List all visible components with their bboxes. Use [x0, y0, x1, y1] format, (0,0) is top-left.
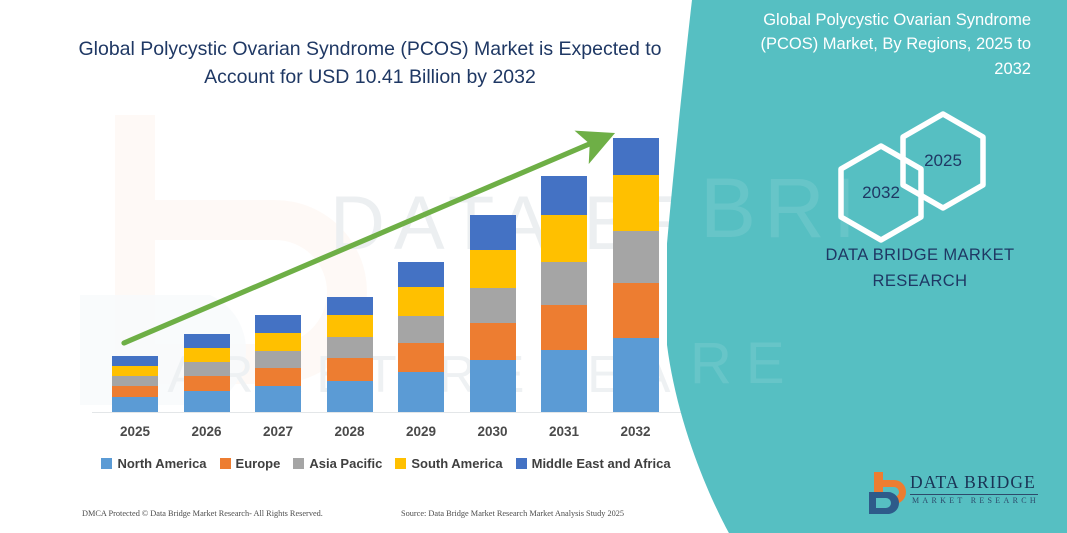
bar-segment[interactable] — [255, 368, 301, 386]
dbmr-logo-rule — [910, 494, 1038, 495]
bar-segment[interactable] — [327, 315, 373, 337]
bar-segment[interactable] — [398, 262, 444, 287]
panel-heading: Global Polycystic Ovarian Syndrome (PCOS… — [731, 8, 1031, 81]
bar-segment[interactable] — [184, 362, 230, 376]
bar-segment[interactable] — [613, 338, 659, 412]
bar-segment[interactable] — [541, 350, 587, 412]
bar-segment[interactable] — [184, 376, 230, 391]
bar-segment[interactable] — [398, 372, 444, 412]
bar-group[interactable] — [470, 215, 516, 412]
bar-segment[interactable] — [184, 334, 230, 348]
bar-segment[interactable] — [541, 305, 587, 350]
bar-group[interactable] — [613, 138, 659, 412]
legend-label: North America — [117, 456, 206, 471]
bar-segment[interactable] — [470, 288, 516, 323]
bar-segment[interactable] — [398, 316, 444, 343]
legend-label: Middle East and Africa — [532, 456, 671, 471]
legend-swatch — [293, 458, 304, 469]
bar-segment[interactable] — [327, 337, 373, 358]
bar-segment[interactable] — [255, 351, 301, 368]
bar-group[interactable] — [398, 262, 444, 412]
bar-segment[interactable] — [398, 287, 444, 316]
bar-segment[interactable] — [255, 386, 301, 412]
bar-segment[interactable] — [470, 215, 516, 250]
hexagon-2032: 2032 — [835, 142, 927, 244]
bar-segment[interactable] — [112, 397, 158, 412]
legend-item[interactable]: South America — [395, 456, 502, 471]
bar-segment[interactable] — [398, 343, 444, 372]
legend-item[interactable]: Asia Pacific — [293, 456, 382, 471]
footer-copyright: DMCA Protected © Data Bridge Market Rese… — [82, 509, 323, 518]
footer-source: Source: Data Bridge Market Research Mark… — [401, 509, 624, 518]
bar-segment[interactable] — [112, 376, 158, 386]
legend-item[interactable]: Middle East and Africa — [516, 456, 671, 471]
bar-segment[interactable] — [470, 323, 516, 360]
dbmr-logo-mark-icon — [868, 470, 908, 516]
bar-group[interactable] — [112, 356, 158, 412]
bar-segment[interactable] — [327, 358, 373, 381]
bar-segment[interactable] — [541, 215, 587, 262]
legend-item[interactable]: North America — [101, 456, 206, 471]
x-axis-label: 2027 — [243, 424, 313, 439]
dbmr-logo-name: DATA BRIDGE — [910, 472, 1036, 493]
bar-group[interactable] — [255, 315, 301, 412]
x-axis-label: 2028 — [315, 424, 385, 439]
x-axis-label: 2029 — [386, 424, 456, 439]
bar-segment[interactable] — [184, 391, 230, 412]
bar-segment[interactable] — [327, 381, 373, 412]
legend-swatch — [516, 458, 527, 469]
dbmr-logo-tagline: MARKET RESEARCH — [912, 496, 1039, 505]
legend-item[interactable]: Europe — [220, 456, 281, 471]
x-axis-label: 2032 — [601, 424, 671, 439]
chart-legend: North AmericaEuropeAsia PacificSouth Ame… — [96, 456, 676, 471]
legend-swatch — [395, 458, 406, 469]
bar-segment[interactable] — [470, 250, 516, 288]
infographic-page: DATA BRIDGE MARKET RESEARCH Global Polyc… — [0, 0, 1067, 533]
bar-segment[interactable] — [613, 283, 659, 338]
legend-swatch — [101, 458, 112, 469]
bar-segment[interactable] — [112, 386, 158, 397]
dbmr-logo: DATA BRIDGE MARKET RESEARCH — [868, 470, 1040, 518]
bar-segment[interactable] — [613, 231, 659, 283]
legend-label: Asia Pacific — [309, 456, 382, 471]
x-axis-label: 2026 — [172, 424, 242, 439]
chart-plot-area: 20252026202720282029203020312032 — [0, 0, 700, 533]
bar-segment[interactable] — [255, 315, 301, 333]
panel-brand-name: DATA BRIDGE MARKET RESEARCH — [795, 243, 1045, 294]
legend-label: South America — [411, 456, 502, 471]
x-axis-label: 2025 — [100, 424, 170, 439]
x-axis-label: 2031 — [529, 424, 599, 439]
bar-segment[interactable] — [541, 262, 587, 305]
x-axis-label: 2030 — [458, 424, 528, 439]
bar-segment[interactable] — [613, 138, 659, 175]
bar-segment[interactable] — [112, 366, 158, 376]
bar-segment[interactable] — [255, 333, 301, 351]
bar-group[interactable] — [541, 176, 587, 412]
hexagon-2032-label: 2032 — [835, 183, 927, 203]
bar-group[interactable] — [327, 297, 373, 412]
bar-segment[interactable] — [541, 176, 587, 215]
bar-segment[interactable] — [470, 360, 516, 412]
bar-segment[interactable] — [184, 348, 230, 362]
bar-segment[interactable] — [112, 356, 158, 366]
bar-segment[interactable] — [327, 297, 373, 315]
x-axis-line — [92, 412, 684, 413]
legend-swatch — [220, 458, 231, 469]
bar-group[interactable] — [184, 334, 230, 412]
legend-label: Europe — [236, 456, 281, 471]
bar-segment[interactable] — [613, 175, 659, 231]
